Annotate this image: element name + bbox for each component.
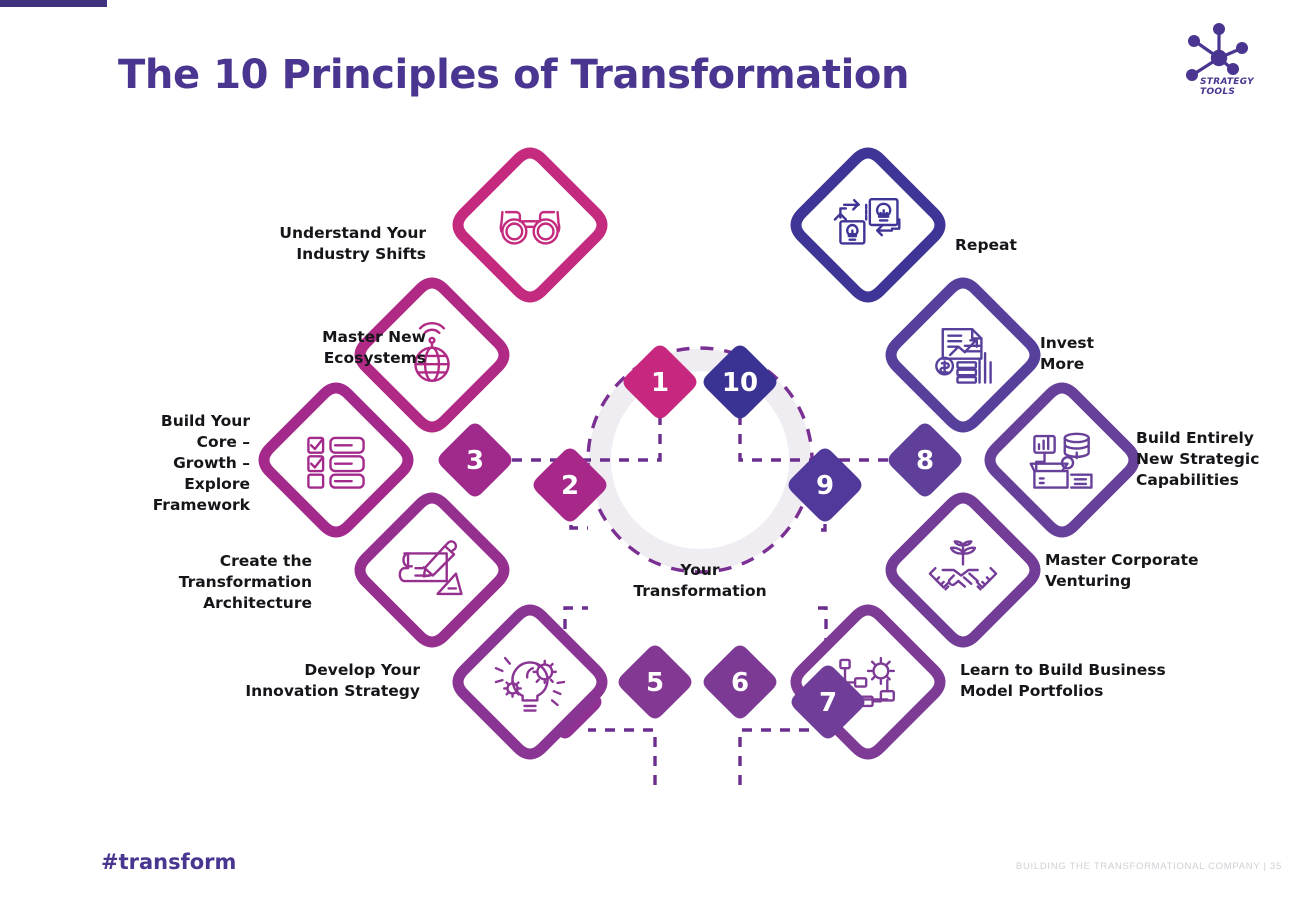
principle-number-9: 9 — [816, 471, 834, 501]
principle-diamond-9 — [891, 283, 1035, 427]
principle-label-1: Understand Your Industry Shifts — [170, 223, 426, 265]
center-hub-label: Your Transformation — [600, 560, 800, 602]
strategy-tools-logo: STRATEGY TOOLS — [1174, 22, 1264, 112]
logo-line-2: TOOLS — [1200, 87, 1235, 97]
principle-number-3: 3 — [466, 446, 484, 476]
principle-number-6: 6 — [731, 668, 749, 698]
principle-number-1: 1 — [651, 368, 669, 398]
top-accent-bar — [0, 0, 107, 7]
logo-line-1: STRATEGY — [1200, 77, 1254, 87]
principle-label-4: Create the Transformation Architecture — [100, 551, 312, 614]
page-title: The 10 Principles of Transformation — [118, 52, 909, 98]
principle-label-6: Learn to Build Business Model Portfolios — [960, 660, 1190, 702]
principle-number-8: 8 — [916, 446, 934, 476]
principle-diamond-7 — [891, 498, 1035, 642]
logo-wordmark: STRATEGY TOOLS — [1200, 78, 1254, 97]
principle-number-10: 10 — [722, 368, 758, 398]
footer-hashtag: #transform — [101, 850, 236, 874]
principle-node-5[interactable]: 5 — [458, 610, 691, 754]
principle-diamond-4 — [360, 498, 504, 642]
principle-label-3: Build Your Core – Growth – Explore Frame… — [60, 411, 250, 516]
footer-note: BUILDING THE TRANSFORMATIONAL COMPANY | … — [1016, 861, 1282, 872]
transformation-diagram: 12345678910 Understand Your Industry Shi… — [0, 130, 1300, 810]
principle-diamond-3 — [264, 388, 408, 532]
principle-label-5: Develop Your Innovation Strategy — [180, 660, 420, 702]
principle-label-7: Master Corporate Venturing — [1045, 550, 1245, 592]
principle-diamond-10 — [796, 153, 940, 297]
principle-number-2: 2 — [561, 471, 579, 501]
principle-label-2: Master New Ecosystems — [130, 327, 426, 369]
principle-label-8: Build Entirely New Strategic Capabilitie… — [1136, 428, 1300, 491]
principle-node-3[interactable]: 3 — [264, 388, 511, 532]
principle-diamond-1 — [458, 153, 602, 297]
principle-diamond-5 — [458, 610, 602, 754]
principle-number-7: 7 — [819, 688, 837, 718]
principle-number-5: 5 — [646, 668, 664, 698]
principle-label-9: Invest More — [1040, 333, 1220, 375]
principle-node-8[interactable]: 8 — [889, 388, 1134, 532]
principle-label-10: Repeat — [955, 235, 1155, 256]
